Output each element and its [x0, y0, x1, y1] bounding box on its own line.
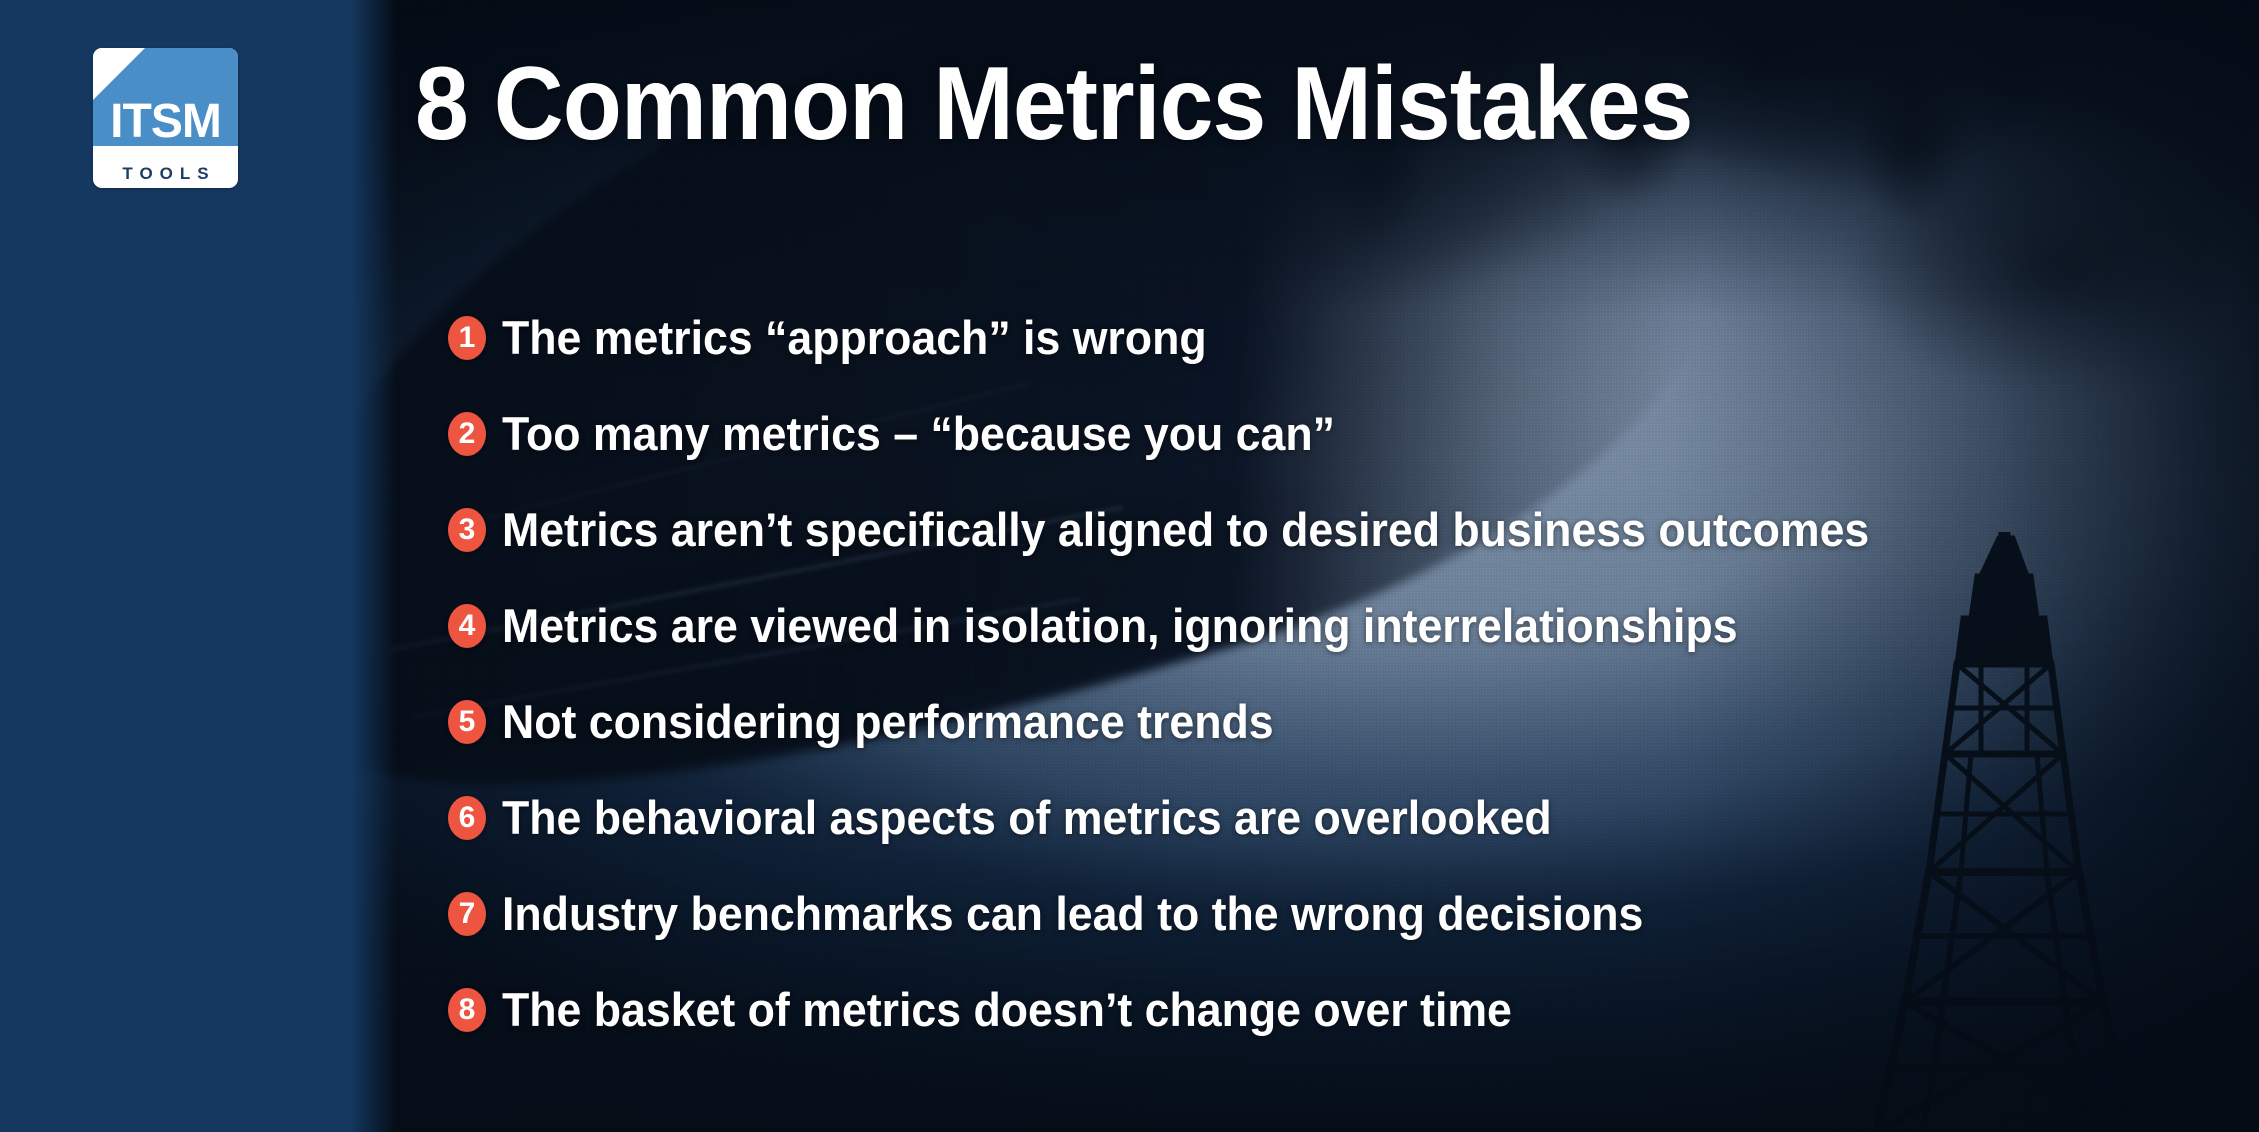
content-area: 8 Common Metrics Mistakes 1 The metrics …	[0, 0, 2259, 1132]
list-item: 3 Metrics aren’t specifically aligned to…	[448, 496, 2168, 564]
item-number-badge: 7	[448, 892, 486, 936]
item-number-badge: 8	[448, 988, 486, 1032]
item-label: Metrics are viewed in isolation, ignorin…	[502, 600, 1738, 652]
list-item: 7 Industry benchmarks can lead to the wr…	[448, 880, 2168, 948]
infographic-slide: ITSM TOOLS 8 Common Metrics Mistakes 1 T…	[0, 0, 2259, 1132]
item-number-badge: 5	[448, 700, 486, 744]
item-label: Metrics aren’t specifically aligned to d…	[502, 504, 1869, 556]
item-label: Not considering performance trends	[502, 696, 1274, 748]
list-item: 2 Too many metrics – “because you can”	[448, 400, 2168, 468]
item-label: The behavioral aspects of metrics are ov…	[502, 792, 1552, 844]
list-item: 5 Not considering performance trends	[448, 688, 2168, 756]
item-label: The basket of metrics doesn’t change ove…	[502, 984, 1512, 1036]
list-item: 6 The behavioral aspects of metrics are …	[448, 784, 2168, 852]
item-label: Too many metrics – “because you can”	[502, 408, 1335, 460]
list-item: 8 The basket of metrics doesn’t change o…	[448, 976, 2168, 1044]
item-number-badge: 2	[448, 412, 486, 456]
list-item: 4 Metrics are viewed in isolation, ignor…	[448, 592, 2168, 660]
item-label: Industry benchmarks can lead to the wron…	[502, 888, 1643, 940]
list-item: 1 The metrics “approach” is wrong	[448, 304, 2168, 372]
item-number-badge: 3	[448, 508, 486, 552]
page-title: 8 Common Metrics Mistakes	[415, 50, 2015, 159]
item-label: The metrics “approach” is wrong	[502, 312, 1207, 364]
item-number-badge: 6	[448, 796, 486, 840]
mistakes-list: 1 The metrics “approach” is wrong 2 Too …	[448, 304, 2168, 1072]
item-number-badge: 1	[448, 316, 486, 360]
item-number-badge: 4	[448, 604, 486, 648]
